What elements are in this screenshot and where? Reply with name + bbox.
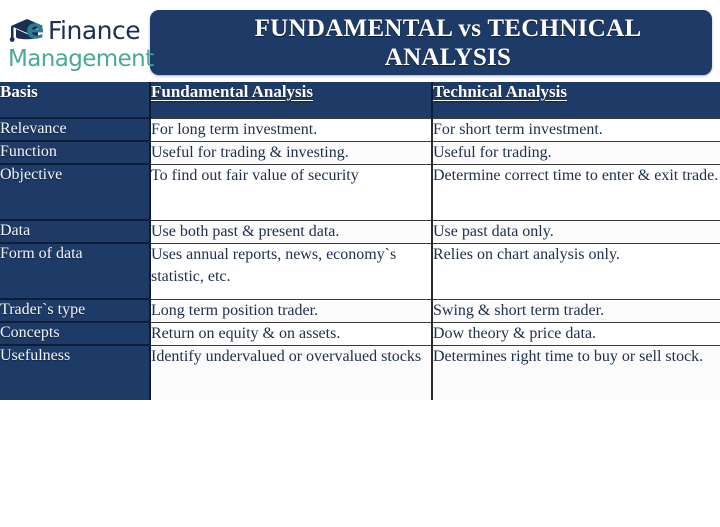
table-row: Usefulness Identify undervalued or overv… [0,345,720,400]
column-header-fundamental: Fundamental Analysis [150,82,432,118]
row-technical-value: Swing & short term trader. [432,299,720,322]
column-header-technical: Technical Analysis [432,82,720,118]
table-row: Objective To find out fair value of secu… [0,164,720,220]
row-technical-value: Use past data only. [432,220,720,243]
table-header-row: Basis Fundamental Analysis Technical Ana… [0,82,720,118]
row-technical-value: Dow theory & price data. [432,322,720,345]
table-row: Function Useful for trading & investing.… [0,141,720,164]
row-basis-label: Usefulness [0,345,150,400]
row-basis-label: Data [0,220,150,243]
table-row: Form of data Uses annual reports, news, … [0,243,720,299]
row-basis-label: Function [0,141,150,164]
row-technical-value: Determines right time to buy or sell sto… [432,345,720,400]
page-title: FUNDAMENTAL vs TECHNICAL ANALYSIS [210,14,686,72]
row-basis-label: Relevance [0,118,150,141]
row-technical-value: Relies on chart analysis only. [432,243,720,299]
row-technical-value: Useful for trading. [432,141,720,164]
row-fundamental-value: Useful for trading & investing. [150,141,432,164]
row-fundamental-value: To find out fair value of security [150,164,432,220]
row-basis-label: Concepts [0,322,150,345]
row-basis-label: Form of data [0,243,150,299]
row-basis-label: Objective [0,164,150,220]
table-body: Relevance For long term investment. For … [0,118,720,400]
brand-word-management: Management [8,46,154,72]
column-header-technical-label: Technical Analysis [433,82,567,101]
row-fundamental-value: For long term investment. [150,118,432,141]
table-row: Concepts Return on equity & on assets. D… [0,322,720,345]
brand-logo[interactable]: e Finance Management [4,14,146,76]
column-header-basis: Basis [0,82,150,118]
row-fundamental-value: Uses annual reports, news, economy`s sta… [150,243,432,299]
row-basis-label: Trader`s type [0,299,150,322]
row-technical-value: For short term investment. [432,118,720,141]
row-fundamental-value: Long term position trader. [150,299,432,322]
brand-letter-e: e [26,15,43,45]
bottom-margin [0,517,720,527]
row-fundamental-value: Identify undervalued or overvalued stock… [150,345,432,400]
row-technical-value: Determine correct time to enter & exit t… [432,164,720,220]
table-row: Relevance For long term investment. For … [0,118,720,141]
table-row: Trader`s type Long term position trader.… [0,299,720,322]
row-fundamental-value: Use both past & present data. [150,220,432,243]
row-fundamental-value: Return on equity & on assets. [150,322,432,345]
table-row: Data Use both past & present data. Use p… [0,220,720,243]
comparison-infographic: e Finance Management FUNDAMENTAL vs TECH… [0,0,720,527]
brand-word-finance: Finance [48,16,140,46]
column-header-basis-label: Basis [0,82,38,101]
title-banner: FUNDAMENTAL vs TECHNICAL ANALYSIS [150,10,712,75]
column-header-fundamental-label: Fundamental Analysis [151,82,313,101]
header-band: e Finance Management FUNDAMENTAL vs TECH… [0,0,720,82]
comparison-table: Basis Fundamental Analysis Technical Ana… [0,82,720,400]
